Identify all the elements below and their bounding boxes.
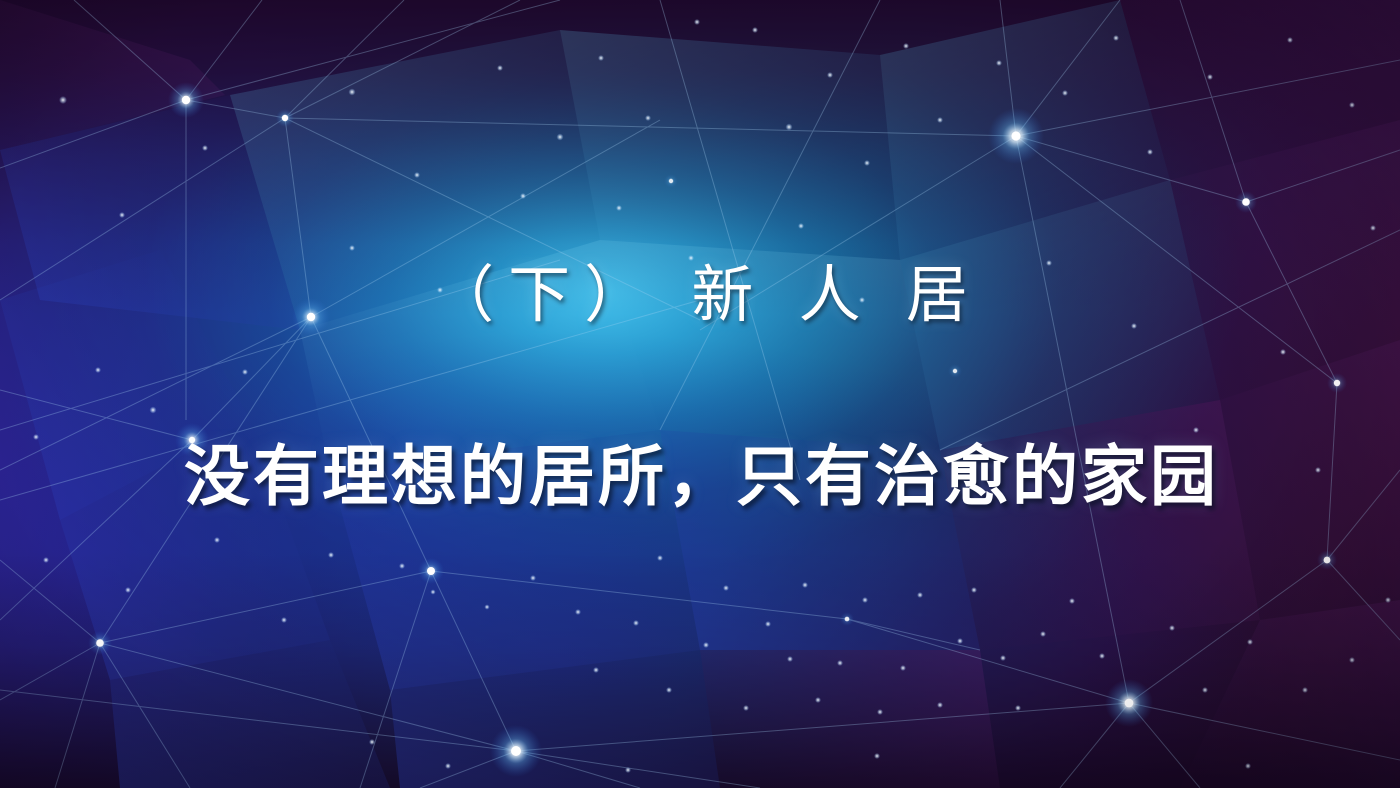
slide-text-block: （下） 新 人 居 没有理想的居所，只有治愈的家园 [0, 0, 1400, 788]
slide-subtitle: 没有理想的居所，只有治愈的家园 [0, 440, 1400, 513]
slide-title: （下） 新 人 居 [0, 262, 1400, 330]
presentation-slide: （下） 新 人 居 没有理想的居所，只有治愈的家园 [0, 0, 1400, 788]
